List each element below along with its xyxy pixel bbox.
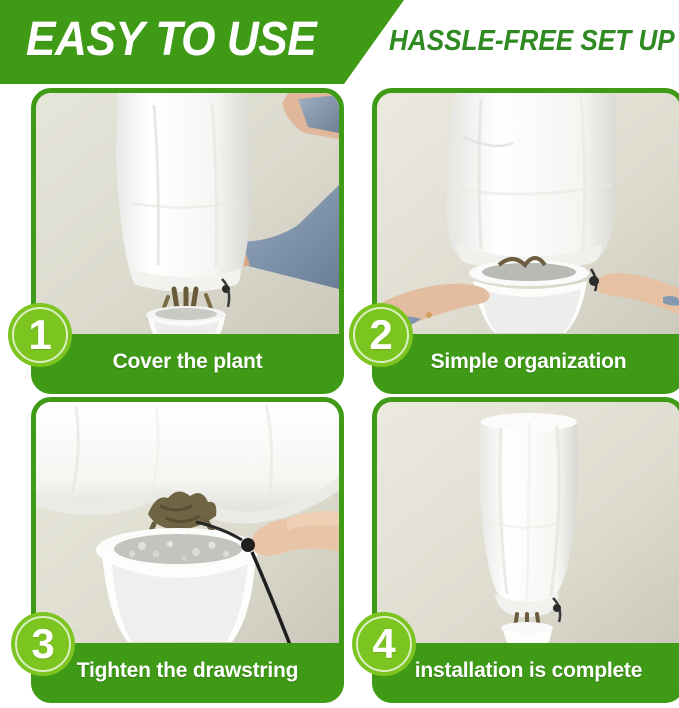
header-title: EASY TO USE — [26, 14, 316, 66]
header-banner: EASY TO USE HASSLE-FREE SET UP — [0, 0, 679, 84]
illustration-cover-the-plant — [36, 93, 339, 341]
step-caption-3: Tighten the drawstring — [36, 643, 339, 698]
step-badge-4: 4 — [352, 612, 416, 676]
step-caption-text-1: Cover the plant — [113, 350, 263, 374]
steps-grid: Cover the plant 1 — [0, 84, 679, 708]
step-badge-1: 1 — [8, 303, 72, 367]
step-number-2: 2 — [369, 314, 392, 356]
step-photo-3 — [36, 402, 339, 650]
step-card-3: Tighten the drawstring — [31, 397, 344, 703]
illustration-installation-is-complete — [377, 402, 679, 650]
illustration-simple-organization — [377, 93, 679, 341]
step-caption-text-4: installation is complete — [415, 659, 642, 683]
step-card-4: installation is complete — [372, 397, 679, 703]
step-badge-2: 2 — [349, 303, 413, 367]
step-card-1: Cover the plant — [31, 88, 344, 394]
step-caption-1: Cover the plant — [36, 334, 339, 389]
step-number-4: 4 — [372, 623, 395, 665]
step-caption-2: Simple organization — [377, 334, 679, 389]
step-card-2: Simple organization — [372, 88, 679, 394]
step-photo-2 — [377, 93, 679, 341]
step-caption-4: installation is complete — [377, 643, 679, 698]
step-number-3: 3 — [31, 623, 54, 665]
step-photo-4 — [377, 402, 679, 650]
step-caption-text-3: Tighten the drawstring — [77, 659, 299, 683]
step-photo-1 — [36, 93, 339, 341]
step-badge-3: 3 — [11, 612, 75, 676]
header-subtitle: HASSLE-FREE SET UP — [389, 25, 675, 57]
illustration-tighten-the-drawstring — [36, 402, 339, 650]
step-caption-text-2: Simple organization — [431, 350, 627, 374]
step-number-1: 1 — [28, 314, 51, 356]
